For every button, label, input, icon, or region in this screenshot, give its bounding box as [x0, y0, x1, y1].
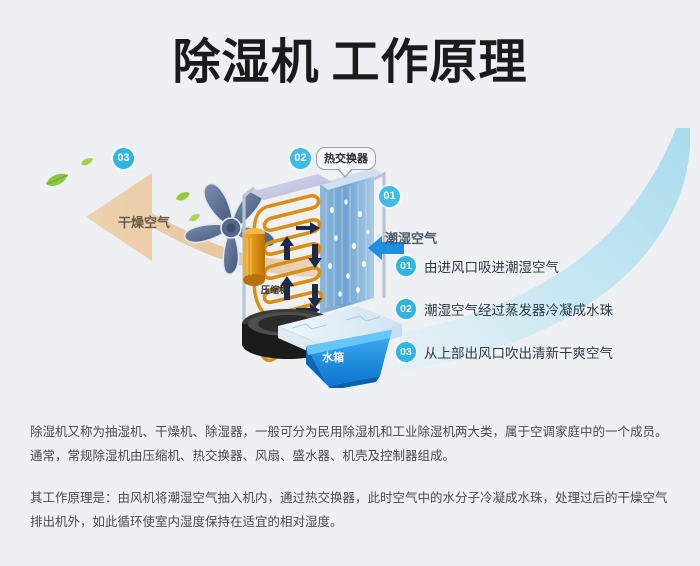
- body-copy: 除湿机又称为抽湿机、干燥机、除湿器，一般可分为民用除湿机和工业除湿机两大类，属于…: [30, 420, 675, 534]
- water-tank-label: 水箱: [322, 349, 344, 365]
- badge-02-artwork: 02: [290, 148, 311, 169]
- legend-list: 01 由进风口吸进潮湿空气 02 潮湿空气经过蒸发器冷凝成水珠 03 从上部出风…: [396, 254, 686, 383]
- leaf-icon: [44, 172, 70, 195]
- paragraph-1-line-2: 通常，常规除湿机由压缩机、热交换器、风扇、盛水器、机壳及控制器组成。: [30, 444, 675, 468]
- paragraph-2-line-1: 其工作原理是：由风机将潮湿空气抽入机内，通过热交换器，此时空气中的水分子冷凝成水…: [30, 486, 675, 510]
- legend-item: 01 由进风口吸进潮湿空气: [396, 254, 686, 278]
- title-part-1: 除湿机: [172, 36, 319, 89]
- badge-03-artwork: 03: [113, 148, 134, 169]
- leaf-icon: [80, 154, 94, 172]
- legend-badge-03: 03: [396, 342, 416, 362]
- dry-air-label: 干燥空气: [118, 212, 170, 231]
- heat-exchanger-callout: 热交换器: [316, 147, 376, 170]
- legend-badge-01: 01: [396, 256, 416, 276]
- paragraph-2-line-2: 排出机外，如此循环使室内湿度保持在适宜的相对湿度。: [30, 510, 675, 534]
- dehumidifier-unit: [236, 148, 406, 388]
- legend-text-01: 由进风口吸进潮湿空气: [424, 256, 559, 276]
- paragraph-1-line-1: 除湿机又称为抽湿机、干燥机、除湿器，一般可分为民用除湿机和工业除湿机两大类，属于…: [30, 420, 675, 444]
- legend-badge-02: 02: [396, 299, 416, 319]
- legend-item: 02 潮湿空气经过蒸发器冷凝成水珠: [396, 297, 686, 321]
- infographic-page: 除湿机工作原理: [0, 0, 700, 566]
- legend-item: 03 从上部出风口吹出清新干爽空气: [396, 340, 686, 364]
- page-title: 除湿机工作原理: [0, 34, 700, 92]
- legend-text-02: 潮湿空气经过蒸发器冷凝成水珠: [424, 299, 613, 319]
- humid-air-label: 潮湿空气: [385, 228, 437, 247]
- title-part-2: 工作原理: [332, 36, 528, 89]
- badge-01-artwork: 01: [379, 186, 400, 207]
- legend-text-03: 从上部出风口吹出清新干爽空气: [424, 342, 613, 362]
- compressor-label: 压缩机: [261, 283, 288, 296]
